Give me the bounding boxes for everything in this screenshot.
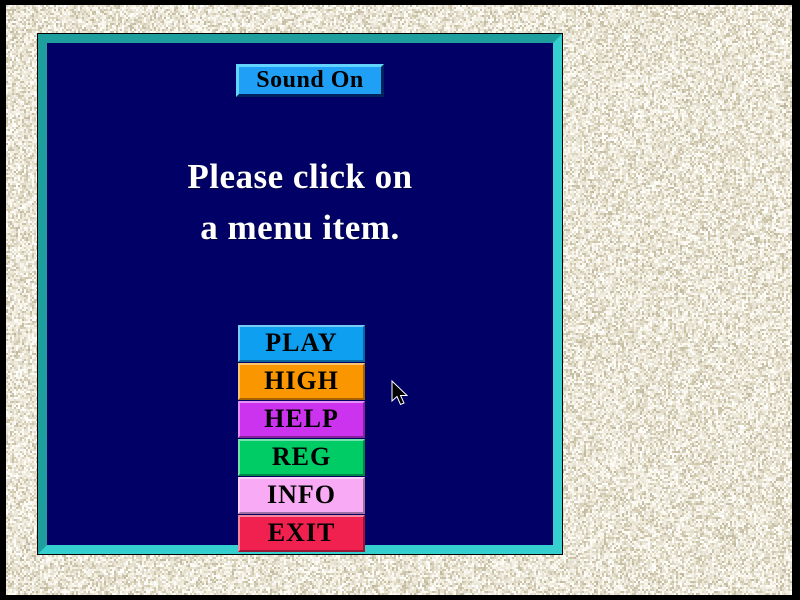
menu-item-high[interactable]: HIGH xyxy=(238,363,365,400)
menu-item-play[interactable]: PLAY xyxy=(238,325,365,362)
prompt-message: Please click on a menu item. xyxy=(47,151,553,253)
mouse-cursor-icon xyxy=(391,380,409,408)
menu-item-reg[interactable]: REG xyxy=(238,439,365,476)
menu-item-info[interactable]: INFO xyxy=(238,477,365,514)
menu-item-help[interactable]: HELP xyxy=(238,401,365,438)
prompt-line-2: a menu item. xyxy=(47,202,553,253)
game-panel-inner: Sound On Please click on a menu item. PL… xyxy=(47,43,553,545)
game-panel: Sound On Please click on a menu item. PL… xyxy=(38,34,562,554)
prompt-line-1: Please click on xyxy=(47,151,553,202)
sound-toggle-button[interactable]: Sound On xyxy=(236,64,384,97)
app-screen: Sound On Please click on a menu item. PL… xyxy=(0,0,800,600)
main-menu: PLAY HIGH HELP REG INFO EXIT xyxy=(238,325,365,553)
menu-item-exit[interactable]: EXIT xyxy=(238,515,365,552)
